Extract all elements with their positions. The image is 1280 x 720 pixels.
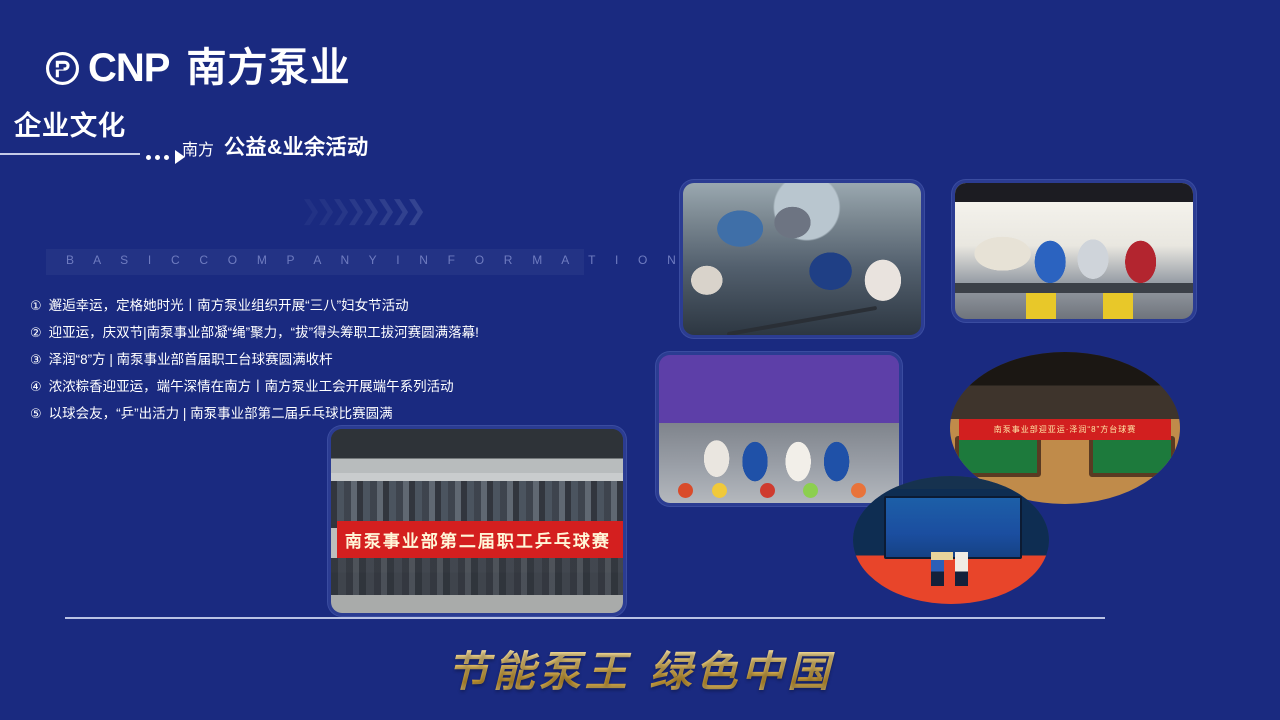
heading-underline <box>0 153 140 155</box>
ball-shape <box>712 483 727 498</box>
list-item-label: 邂逅幸运，定格她时光丨南方泵业组织开展“三八”妇女节活动 <box>49 292 409 319</box>
section-label-text: B A S I C C O M P A N Y I N F O R M A T … <box>66 253 586 267</box>
heading-subtitle-main: 公益&业余活动 <box>224 131 369 161</box>
certificate-shape <box>931 552 953 560</box>
table-shape <box>955 283 1193 293</box>
ball-shape <box>760 483 775 498</box>
dots-arrow-icon <box>146 150 185 164</box>
list-item-number: ① <box>30 292 42 319</box>
billiard-table-shape <box>955 436 1041 477</box>
page-title: 企业文化 <box>14 112 126 142</box>
list-item: ③ 泽润“8”方 | 南泵事业部首届职工台球赛圆满收杆 <box>30 346 630 373</box>
chair-shape <box>1103 293 1133 319</box>
photo-ping-pong: 南泵事业部第二届职工乒乓球赛 <box>328 426 626 616</box>
brand-lockup: CNP 南方泵业 <box>46 48 350 88</box>
list-item-label: 以球会友，“乒”出活力 | 南泵事业部第二届乒乓球比赛圆满 <box>49 400 393 427</box>
list-item: ② 迎亚运，庆双节|南泵事业部凝“绳”聚力，“拔”得头筹职工拔河赛圆满落幕! <box>30 319 630 346</box>
stage-screen-shape <box>884 496 1021 559</box>
list-item-number: ③ <box>30 346 42 373</box>
brand-name-cn: 南方泵业 <box>186 48 350 88</box>
chevron-right-repeat-icon: ❯❯❯ ❯❯❯ ❯❯ <box>300 198 418 224</box>
photo-award-ceremony <box>853 476 1049 604</box>
list-item-label: 浓浓粽香迎亚运，端午深情在南方丨南方泵业工会开展端午系列活动 <box>49 373 454 400</box>
photo-image <box>683 183 921 335</box>
list-item: ⑤ 以球会友，“乒”出活力 | 南泵事业部第二届乒乓球比赛圆满 <box>30 400 630 427</box>
crowd-legs-shape <box>331 558 623 595</box>
cnp-pump-logo-icon <box>46 52 79 85</box>
list-item-number: ④ <box>30 373 42 400</box>
slide-root: CNP 南方泵业 企业文化 南方 公益&业余活动 ❯❯❯ ❯❯❯ ❯❯ B A … <box>0 0 1280 720</box>
photo-cooking <box>952 180 1196 322</box>
chair-shape <box>1026 293 1056 319</box>
billiard-table-shape <box>1089 436 1175 477</box>
activity-list: ① 邂逅幸运，定格她时光丨南方泵业组织开展“三八”妇女节活动 ② 迎亚运，庆双节… <box>30 292 630 427</box>
list-item: ① 邂逅幸运，定格她时光丨南方泵业组织开展“三八”妇女节活动 <box>30 292 630 319</box>
list-item-number: ② <box>30 319 42 346</box>
slogan-text: 节能泵王 绿色中国 <box>0 638 1280 699</box>
bottom-divider <box>65 617 1105 619</box>
brand-name-en: CNP <box>88 48 169 88</box>
list-item-label: 迎亚运，庆双节|南泵事业部凝“绳”聚力，“拔”得头筹职工拔河赛圆满落幕! <box>49 319 479 346</box>
photo-banner-text: 南泵事业部第二届职工乒乓球赛 <box>337 521 623 558</box>
photo-banner-text: 南泵事业部迎亚运·泽润“8”方台球赛 <box>959 419 1171 440</box>
photo-tug-of-war <box>680 180 924 338</box>
list-item: ④ 浓浓粽香迎亚运，端午深情在南方丨南方泵业工会开展端午系列活动 <box>30 373 630 400</box>
list-item-label: 泽润“8”方 | 南泵事业部首届职工台球赛圆满收杆 <box>49 346 333 373</box>
heading-subtitle-small: 南方 <box>182 136 214 160</box>
ball-shape <box>803 483 818 498</box>
photo-image <box>955 183 1193 319</box>
list-item-number: ⑤ <box>30 400 42 427</box>
person-shape <box>955 552 968 586</box>
